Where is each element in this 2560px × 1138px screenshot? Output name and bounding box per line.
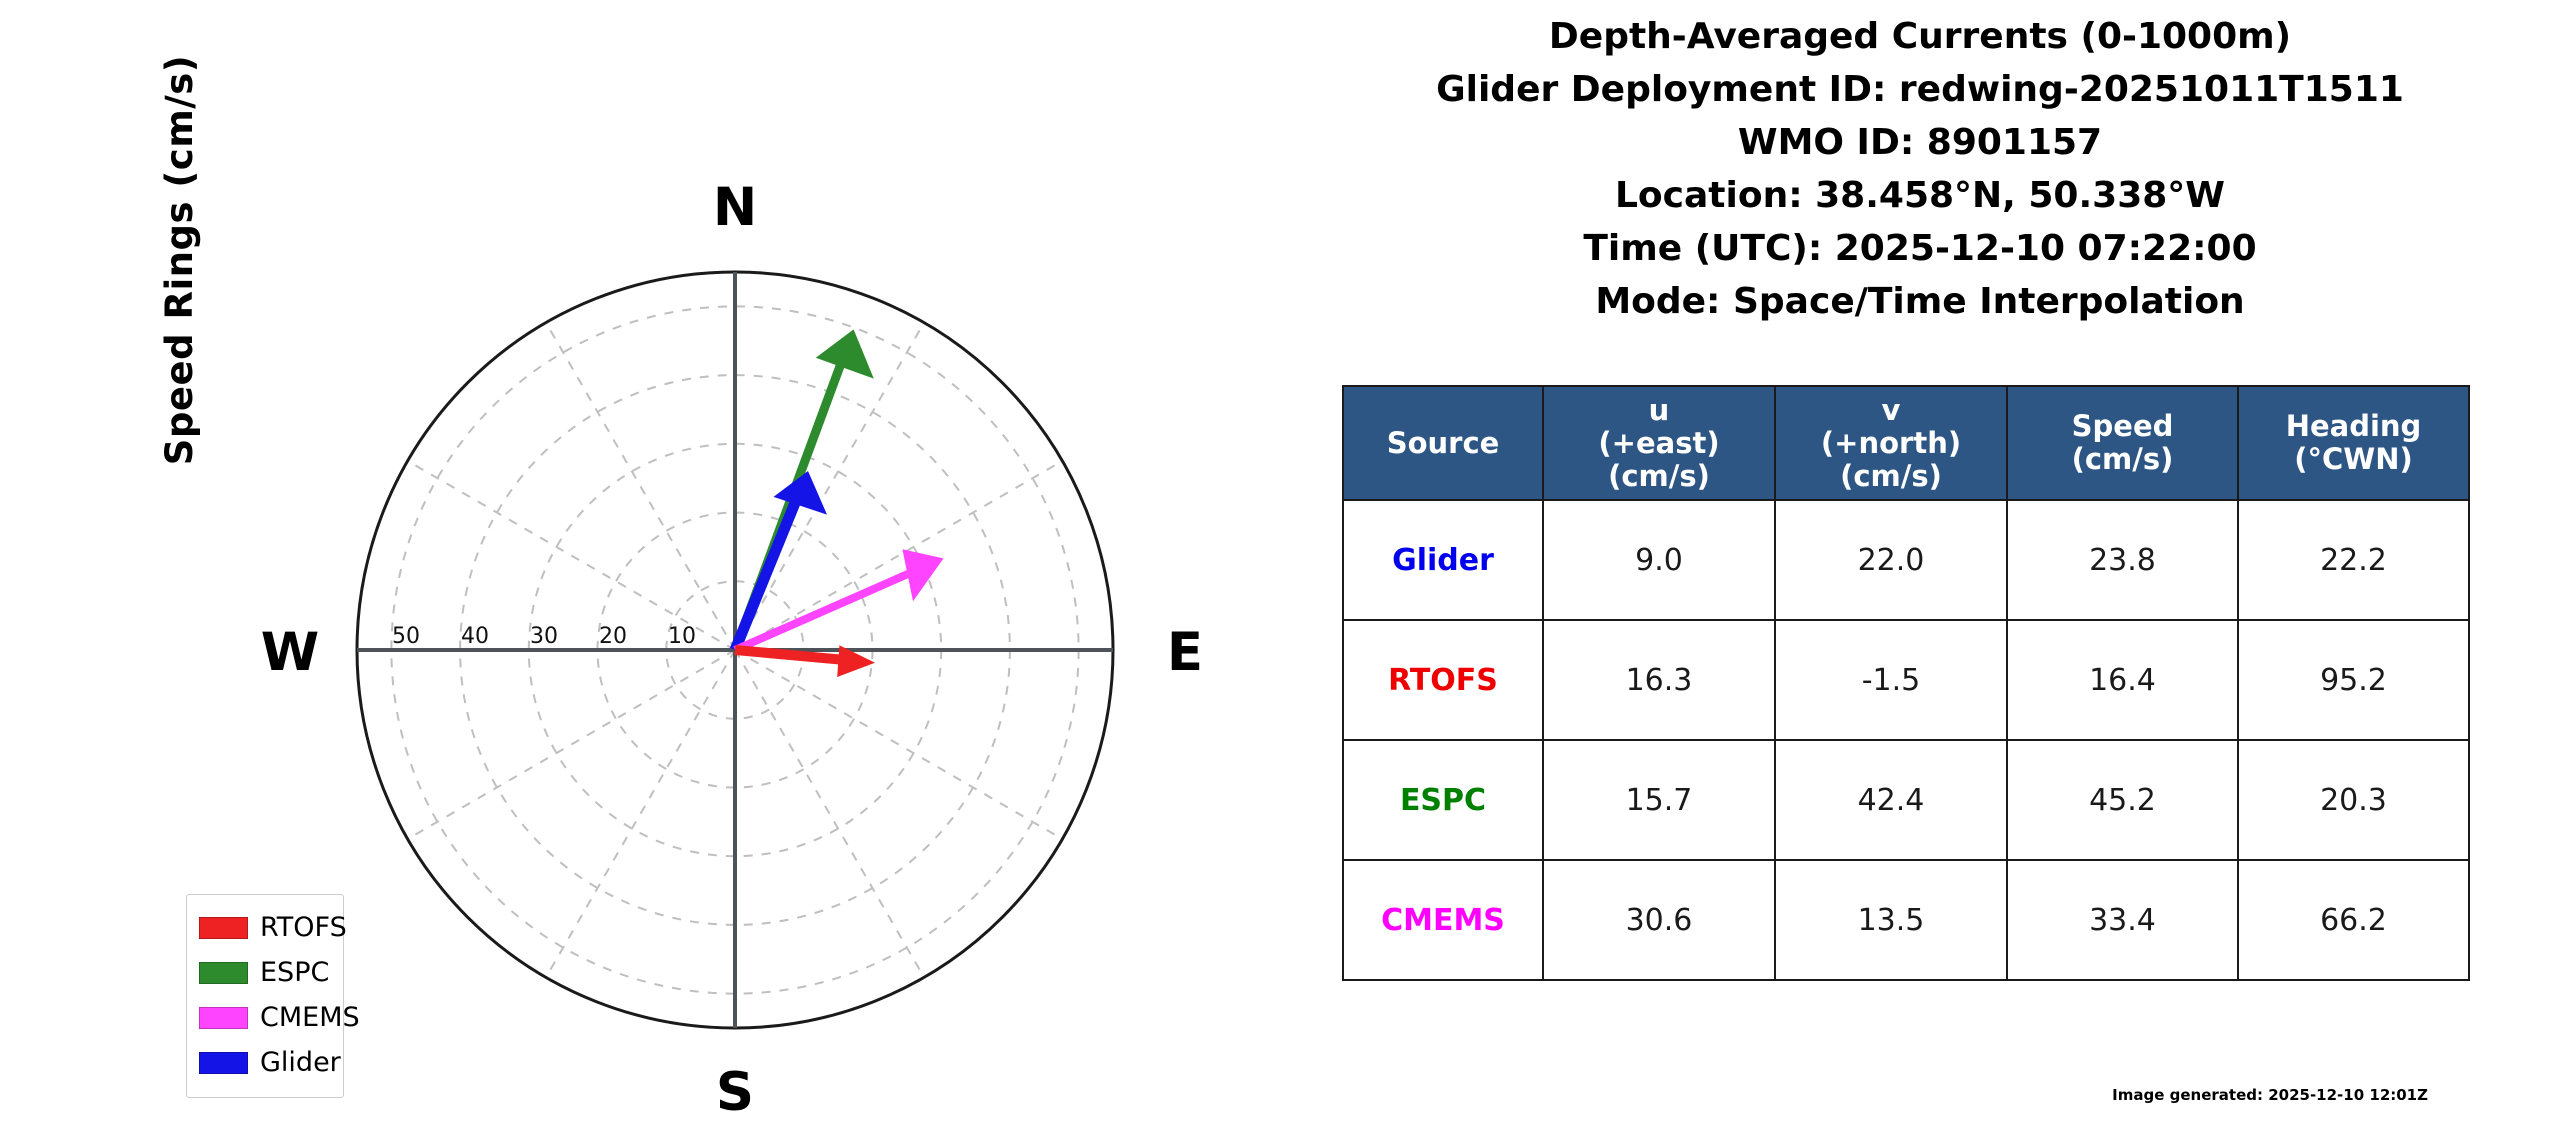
cell-speed-glider: 23.8 [2007,500,2238,620]
svg-text:20: 20 [599,624,627,649]
figure-title-block: Depth-Averaged Currents (0-1000m) Glider… [1280,10,2560,328]
cell-speed-espc: 45.2 [2007,740,2238,860]
cell-heading-rtofs: 95.2 [2238,620,2469,740]
legend-swatch-cmems [199,1007,248,1029]
vector-arrow-glider [735,471,827,650]
cell-u-espc: 15.7 [1543,740,1775,860]
legend-swatch-rtofs [199,917,248,939]
cell-v-rtofs: -1.5 [1775,620,2007,740]
legend-swatch-espc [199,962,248,984]
legend-label-rtofs: RTOFS [260,912,347,943]
cell-source-cmems: CMEMS [1343,860,1543,980]
summary-panel: Depth-Averaged Currents (0-1000m) Glider… [1280,0,2560,1138]
cell-u-cmems: 30.6 [1543,860,1775,980]
title-line-location: Location: 38.458°N, 50.338°W [1280,169,2560,222]
cell-v-cmems: 13.5 [1775,860,2007,980]
figure-canvas: Speed Rings (cm/s) N S E W [0,0,2560,1138]
speed-ring-tick-labels: 10 20 30 40 50 [392,624,696,649]
cell-heading-glider: 22.2 [2238,500,2469,620]
legend-item-glider: Glider [199,1040,331,1085]
legend-label-cmems: CMEMS [260,1002,360,1033]
cell-heading-cmems: 66.2 [2238,860,2469,980]
cell-u-rtofs: 16.3 [1543,620,1775,740]
legend-label-espc: ESPC [260,957,329,988]
image-generated-timestamp: Image generated: 2025-12-10 12:01Z [2112,1086,2428,1104]
cell-heading-espc: 20.3 [2238,740,2469,860]
cell-source-espc: ESPC [1343,740,1543,860]
svg-text:50: 50 [392,624,420,649]
title-line-deployment-id: Glider Deployment ID: redwing-20251011T1… [1280,63,2560,116]
legend-swatch-glider [199,1052,248,1074]
column-header-source: Source [1343,386,1543,500]
cell-speed-rtofs: 16.4 [2007,620,2238,740]
cell-v-glider: 22.0 [1775,500,2007,620]
column-header-heading: Heading (°CWN) [2238,386,2469,500]
legend-item-espc: ESPC [199,950,331,995]
svg-text:10: 10 [668,624,696,649]
title-line-time: Time (UTC): 2025-12-10 07:22:00 [1280,222,2560,275]
cell-source-glider: Glider [1343,500,1543,620]
table-row: ESPC 15.7 42.4 45.2 20.3 [1343,740,2469,860]
table-row: Glider 9.0 22.0 23.8 22.2 [1343,500,2469,620]
cardinal-label-north: N [713,177,757,238]
title-line-wmo-id: WMO ID: 8901157 [1280,116,2560,169]
svg-text:30: 30 [530,624,558,649]
cardinal-label-west: W [261,622,319,683]
title-line-depth-averaged: Depth-Averaged Currents (0-1000m) [1280,10,2560,63]
currents-summary-table: Source u (+east) (cm/s) v (+north) (cm/s… [1342,385,2470,981]
title-line-mode: Mode: Space/Time Interpolation [1280,275,2560,328]
legend-label-glider: Glider [260,1047,341,1078]
cardinal-label-east: E [1167,622,1203,683]
table-header-row: Source u (+east) (cm/s) v (+north) (cm/s… [1343,386,2469,500]
polar-compass-plot: Speed Rings (cm/s) N S E W [0,0,1280,1138]
column-header-u: u (+east) (cm/s) [1543,386,1775,500]
svg-text:40: 40 [461,624,489,649]
cell-u-glider: 9.0 [1543,500,1775,620]
table-row: RTOFS 16.3 -1.5 16.4 95.2 [1343,620,2469,740]
table-row: CMEMS 30.6 13.5 33.4 66.2 [1343,860,2469,980]
legend-item-rtofs: RTOFS [199,905,331,950]
cell-source-rtofs: RTOFS [1343,620,1543,740]
column-header-speed: Speed (cm/s) [2007,386,2238,500]
cell-v-espc: 42.4 [1775,740,2007,860]
plot-legend: RTOFS ESPC CMEMS Glider [186,894,344,1098]
cardinal-label-south: S [716,1062,754,1123]
column-header-v: v (+north) (cm/s) [1775,386,2007,500]
legend-item-cmems: CMEMS [199,995,331,1040]
cell-speed-cmems: 33.4 [2007,860,2238,980]
